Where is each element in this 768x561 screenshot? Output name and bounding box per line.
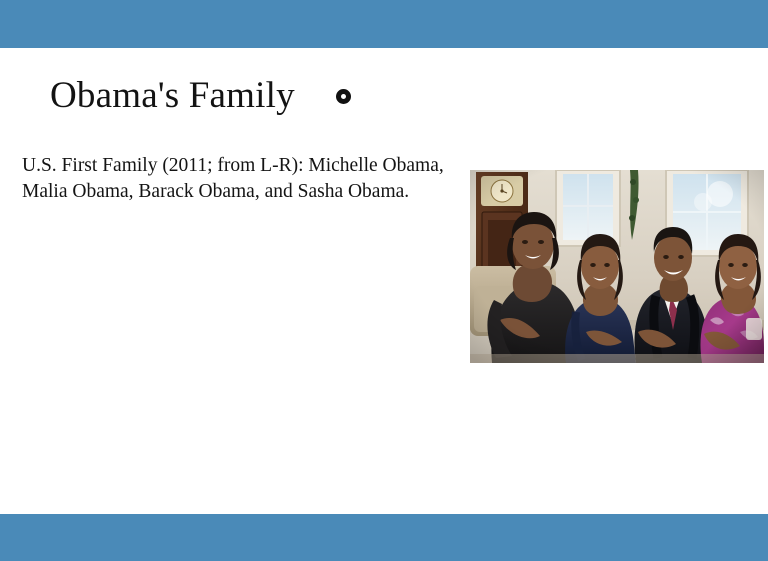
presentation-slide: Obama's Family U.S. First Family (2011; … (0, 0, 768, 561)
page-title: Obama's Family (50, 74, 295, 118)
ring-bullet-icon (336, 89, 351, 104)
obama-family-photo (470, 170, 764, 363)
bottom-decorative-band (0, 514, 768, 561)
slide-title-row: Obama's Family (50, 72, 351, 120)
slide-body-text: U.S. First Family (2011; from L-R): Mich… (22, 153, 452, 204)
family-photo-frame (470, 170, 764, 363)
top-decorative-band (0, 0, 768, 48)
